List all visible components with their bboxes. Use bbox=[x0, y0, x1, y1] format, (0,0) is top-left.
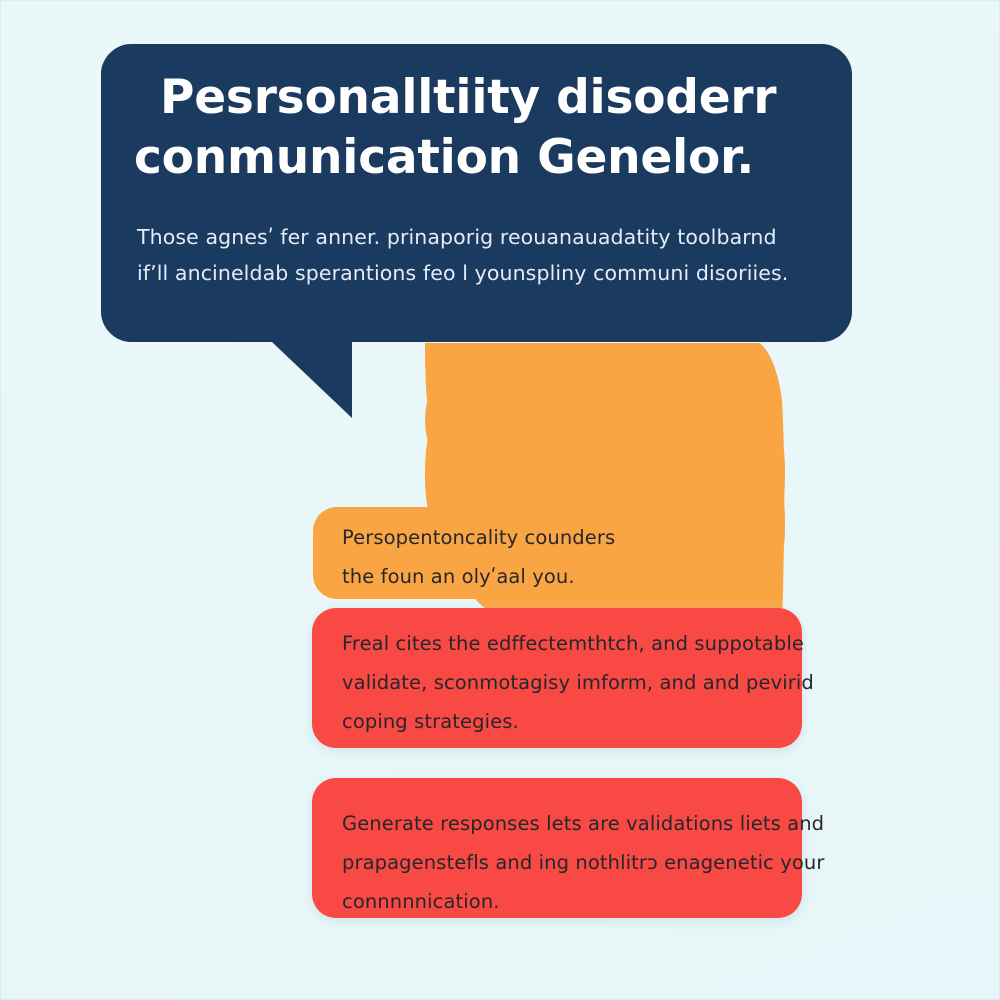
orange-card-line-1: Persopentoncality counders bbox=[342, 518, 772, 557]
page-subtitle: Those agnesʹ fer anner. prinaporig reoua… bbox=[137, 219, 817, 292]
orange-card-text: Persopentoncality counders the foun an o… bbox=[342, 518, 772, 596]
orange-card-line-2: the foun an olyʹaal you. bbox=[342, 557, 772, 596]
red-card-1-line-1: Freal cites the edffectemthtch, and supp… bbox=[342, 624, 792, 663]
red-card-1-text: Freal cites the edffectemthtch, and supp… bbox=[342, 624, 792, 741]
page-title: Pesrsonalltiity disoderr conmunication G… bbox=[160, 68, 820, 188]
red-card-2-line-2: prapagenstefls and ing nothlitrɔ enagene… bbox=[342, 843, 792, 882]
red-card-2-text: Generate responses lets are validations … bbox=[342, 804, 792, 921]
page-title-line-2: conmunication Genelor. bbox=[134, 128, 820, 188]
red-card-2-line-3: connnnnication. bbox=[342, 882, 792, 921]
red-card-2-line-1: Generate responses lets are validations … bbox=[342, 804, 792, 843]
page-subtitle-line-2: ifʼll ancineldab sperantions feo l youns… bbox=[137, 255, 817, 291]
red-card-1-line-2: validate, sconmotagisy imform, and and p… bbox=[342, 663, 792, 702]
page-subtitle-line-1: Those agnesʹ fer anner. prinaporig reoua… bbox=[137, 219, 817, 255]
page-title-line-1: Pesrsonalltiity disoderr bbox=[160, 68, 820, 128]
infographic-canvas: Pesrsonalltiity disoderr conmunication G… bbox=[0, 0, 1000, 1000]
red-card-1-line-3: coping strategies. bbox=[342, 702, 792, 741]
